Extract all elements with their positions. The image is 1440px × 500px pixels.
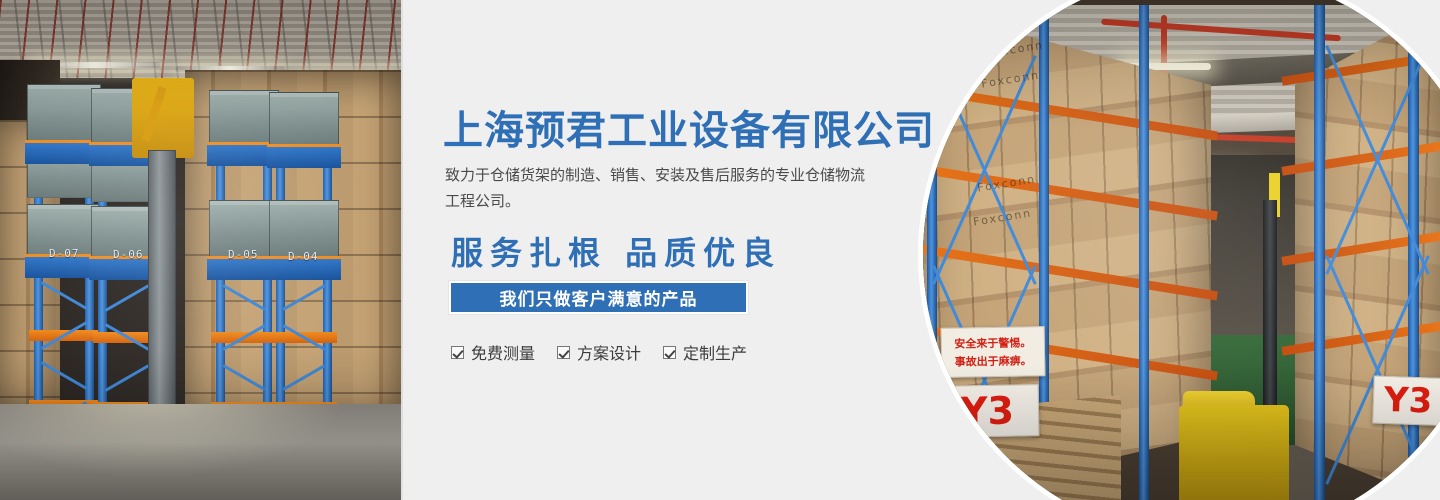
feature-item: 免费测量: [451, 340, 535, 364]
feature-label: 方案设计: [577, 340, 641, 364]
feature-item: 定制生产: [663, 340, 747, 364]
feature-label: 定制生产: [683, 340, 747, 364]
checkbox-checked-icon: [451, 346, 464, 359]
checkbox-checked-icon: [663, 346, 676, 359]
right-photo-clip: Foxconn Foxconn Foxconn Foxconn 安全来于警惕。 …: [918, 5, 1440, 500]
right-photo-vignette: [918, 5, 1440, 500]
banner-text-column: 上海预君工业设备有限公司 致力于仓储货架的制造、销售、安装及售后服务的专业仓储物…: [443, 0, 913, 500]
checkbox-checked-icon: [557, 346, 570, 359]
cta-button[interactable]: 我们只做客户满意的产品: [449, 281, 748, 314]
feature-list: 免费测量 方案设计 定制生产: [451, 340, 747, 364]
company-slogan: 服务扎根 品质优良: [451, 228, 781, 274]
feature-label: 免费测量: [471, 340, 535, 364]
left-photo-scene: D-07 D-06: [0, 0, 401, 500]
feature-item: 方案设计: [557, 340, 641, 364]
left-warehouse-photo: D-07 D-06: [0, 0, 401, 500]
photo-divider: [401, 0, 403, 500]
right-photo-scene: Foxconn Foxconn Foxconn Foxconn 安全来于警惕。 …: [918, 5, 1440, 500]
hero-banner: D-07 D-06: [0, 0, 1440, 500]
company-headline: 上海预君工业设备有限公司: [443, 98, 935, 156]
left-photo-vignette: [0, 0, 401, 500]
right-warehouse-photo: Foxconn Foxconn Foxconn Foxconn 安全来于警惕。 …: [918, 0, 1440, 500]
company-subtitle: 致力于仓储货架的制造、销售、安装及售后服务的专业仓储物流工程公司。: [445, 162, 865, 214]
